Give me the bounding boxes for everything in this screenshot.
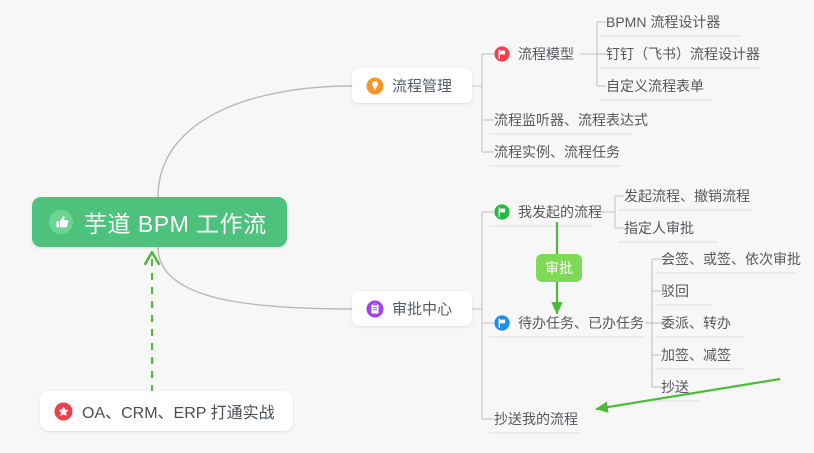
node-dingtalk-designer-label: 钉钉（飞书）流程设计器 [606, 44, 760, 64]
node-process-instance-label: 流程实例、流程任务 [494, 142, 620, 162]
node-todo-done-tasks[interactable]: 待办任务、已办任务 [492, 308, 654, 338]
node-delegate-transfer[interactable]: 委派、转办 [659, 308, 741, 338]
node-process-management-label: 流程管理 [392, 75, 452, 96]
node-my-initiated[interactable]: 我发起的流程 [492, 197, 612, 227]
node-process-model[interactable]: 流程模型 [492, 39, 584, 69]
node-countersign[interactable]: 会签、或签、依次审批 [659, 244, 811, 274]
node-reject-label: 驳回 [661, 281, 689, 301]
node-bpmn-designer[interactable]: BPMN 流程设计器 [604, 7, 730, 37]
node-my-initiated-label: 我发起的流程 [518, 202, 602, 222]
node-assignee-approval[interactable]: 指定人审批 [622, 213, 704, 243]
node-start-cancel-process-label: 发起流程、撤销流程 [624, 186, 750, 206]
node-process-model-label: 流程模型 [518, 44, 574, 64]
node-root-label: 芋道 BPM 工作流 [84, 205, 267, 239]
node-carbon-copy-label: 抄送 [661, 377, 689, 397]
node-countersign-label: 会签、或签、依次审批 [661, 249, 801, 269]
mindmap-canvas: 芋道 BPM 工作流 流程管理 审批中心 [0, 0, 814, 453]
node-copied-to-me-label: 抄送我的流程 [494, 409, 578, 429]
node-add-remove-sign-label: 加签、减签 [661, 345, 731, 365]
lightbulb-pin-icon [366, 77, 384, 95]
node-delegate-transfer-label: 委派、转办 [661, 313, 731, 333]
link-root-to-approval-center [158, 247, 352, 309]
highlight-approval-label: 审批 [545, 258, 573, 278]
node-dingtalk-designer[interactable]: 钉钉（飞书）流程设计器 [604, 39, 770, 69]
flag-icon [494, 46, 510, 62]
thumbs-up-icon [48, 209, 74, 235]
callout-integration-label: OA、CRM、ERP 打通实战 [82, 399, 275, 423]
node-custom-form[interactable]: 自定义流程表单 [604, 71, 714, 101]
flag-icon [494, 204, 510, 220]
node-root[interactable]: 芋道 BPM 工作流 [32, 197, 287, 247]
node-custom-form-label: 自定义流程表单 [606, 76, 704, 96]
highlight-approval-box: 审批 [536, 254, 582, 282]
clipboard-icon [366, 300, 384, 318]
node-process-management[interactable]: 流程管理 [352, 68, 472, 103]
callout-integration[interactable]: OA、CRM、ERP 打通实战 [40, 391, 293, 431]
star-icon [54, 402, 73, 421]
node-start-cancel-process[interactable]: 发起流程、撤销流程 [622, 181, 760, 211]
node-copied-to-me[interactable]: 抄送我的流程 [492, 404, 588, 434]
node-process-listener-label: 流程监听器、流程表达式 [494, 110, 648, 130]
node-reject[interactable]: 驳回 [659, 276, 699, 306]
node-approval-center-label: 审批中心 [392, 298, 452, 319]
link-root-to-process-management [158, 86, 352, 197]
node-add-remove-sign[interactable]: 加签、减签 [659, 340, 741, 370]
node-assignee-approval-label: 指定人审批 [624, 218, 694, 238]
node-process-listener[interactable]: 流程监听器、流程表达式 [492, 105, 658, 135]
flag-icon [494, 315, 510, 331]
node-process-instance[interactable]: 流程实例、流程任务 [492, 137, 630, 167]
node-bpmn-designer-label: BPMN 流程设计器 [606, 12, 720, 32]
node-todo-done-tasks-label: 待办任务、已办任务 [518, 313, 644, 333]
node-approval-center[interactable]: 审批中心 [352, 291, 472, 326]
node-carbon-copy[interactable]: 抄送 [659, 372, 699, 402]
